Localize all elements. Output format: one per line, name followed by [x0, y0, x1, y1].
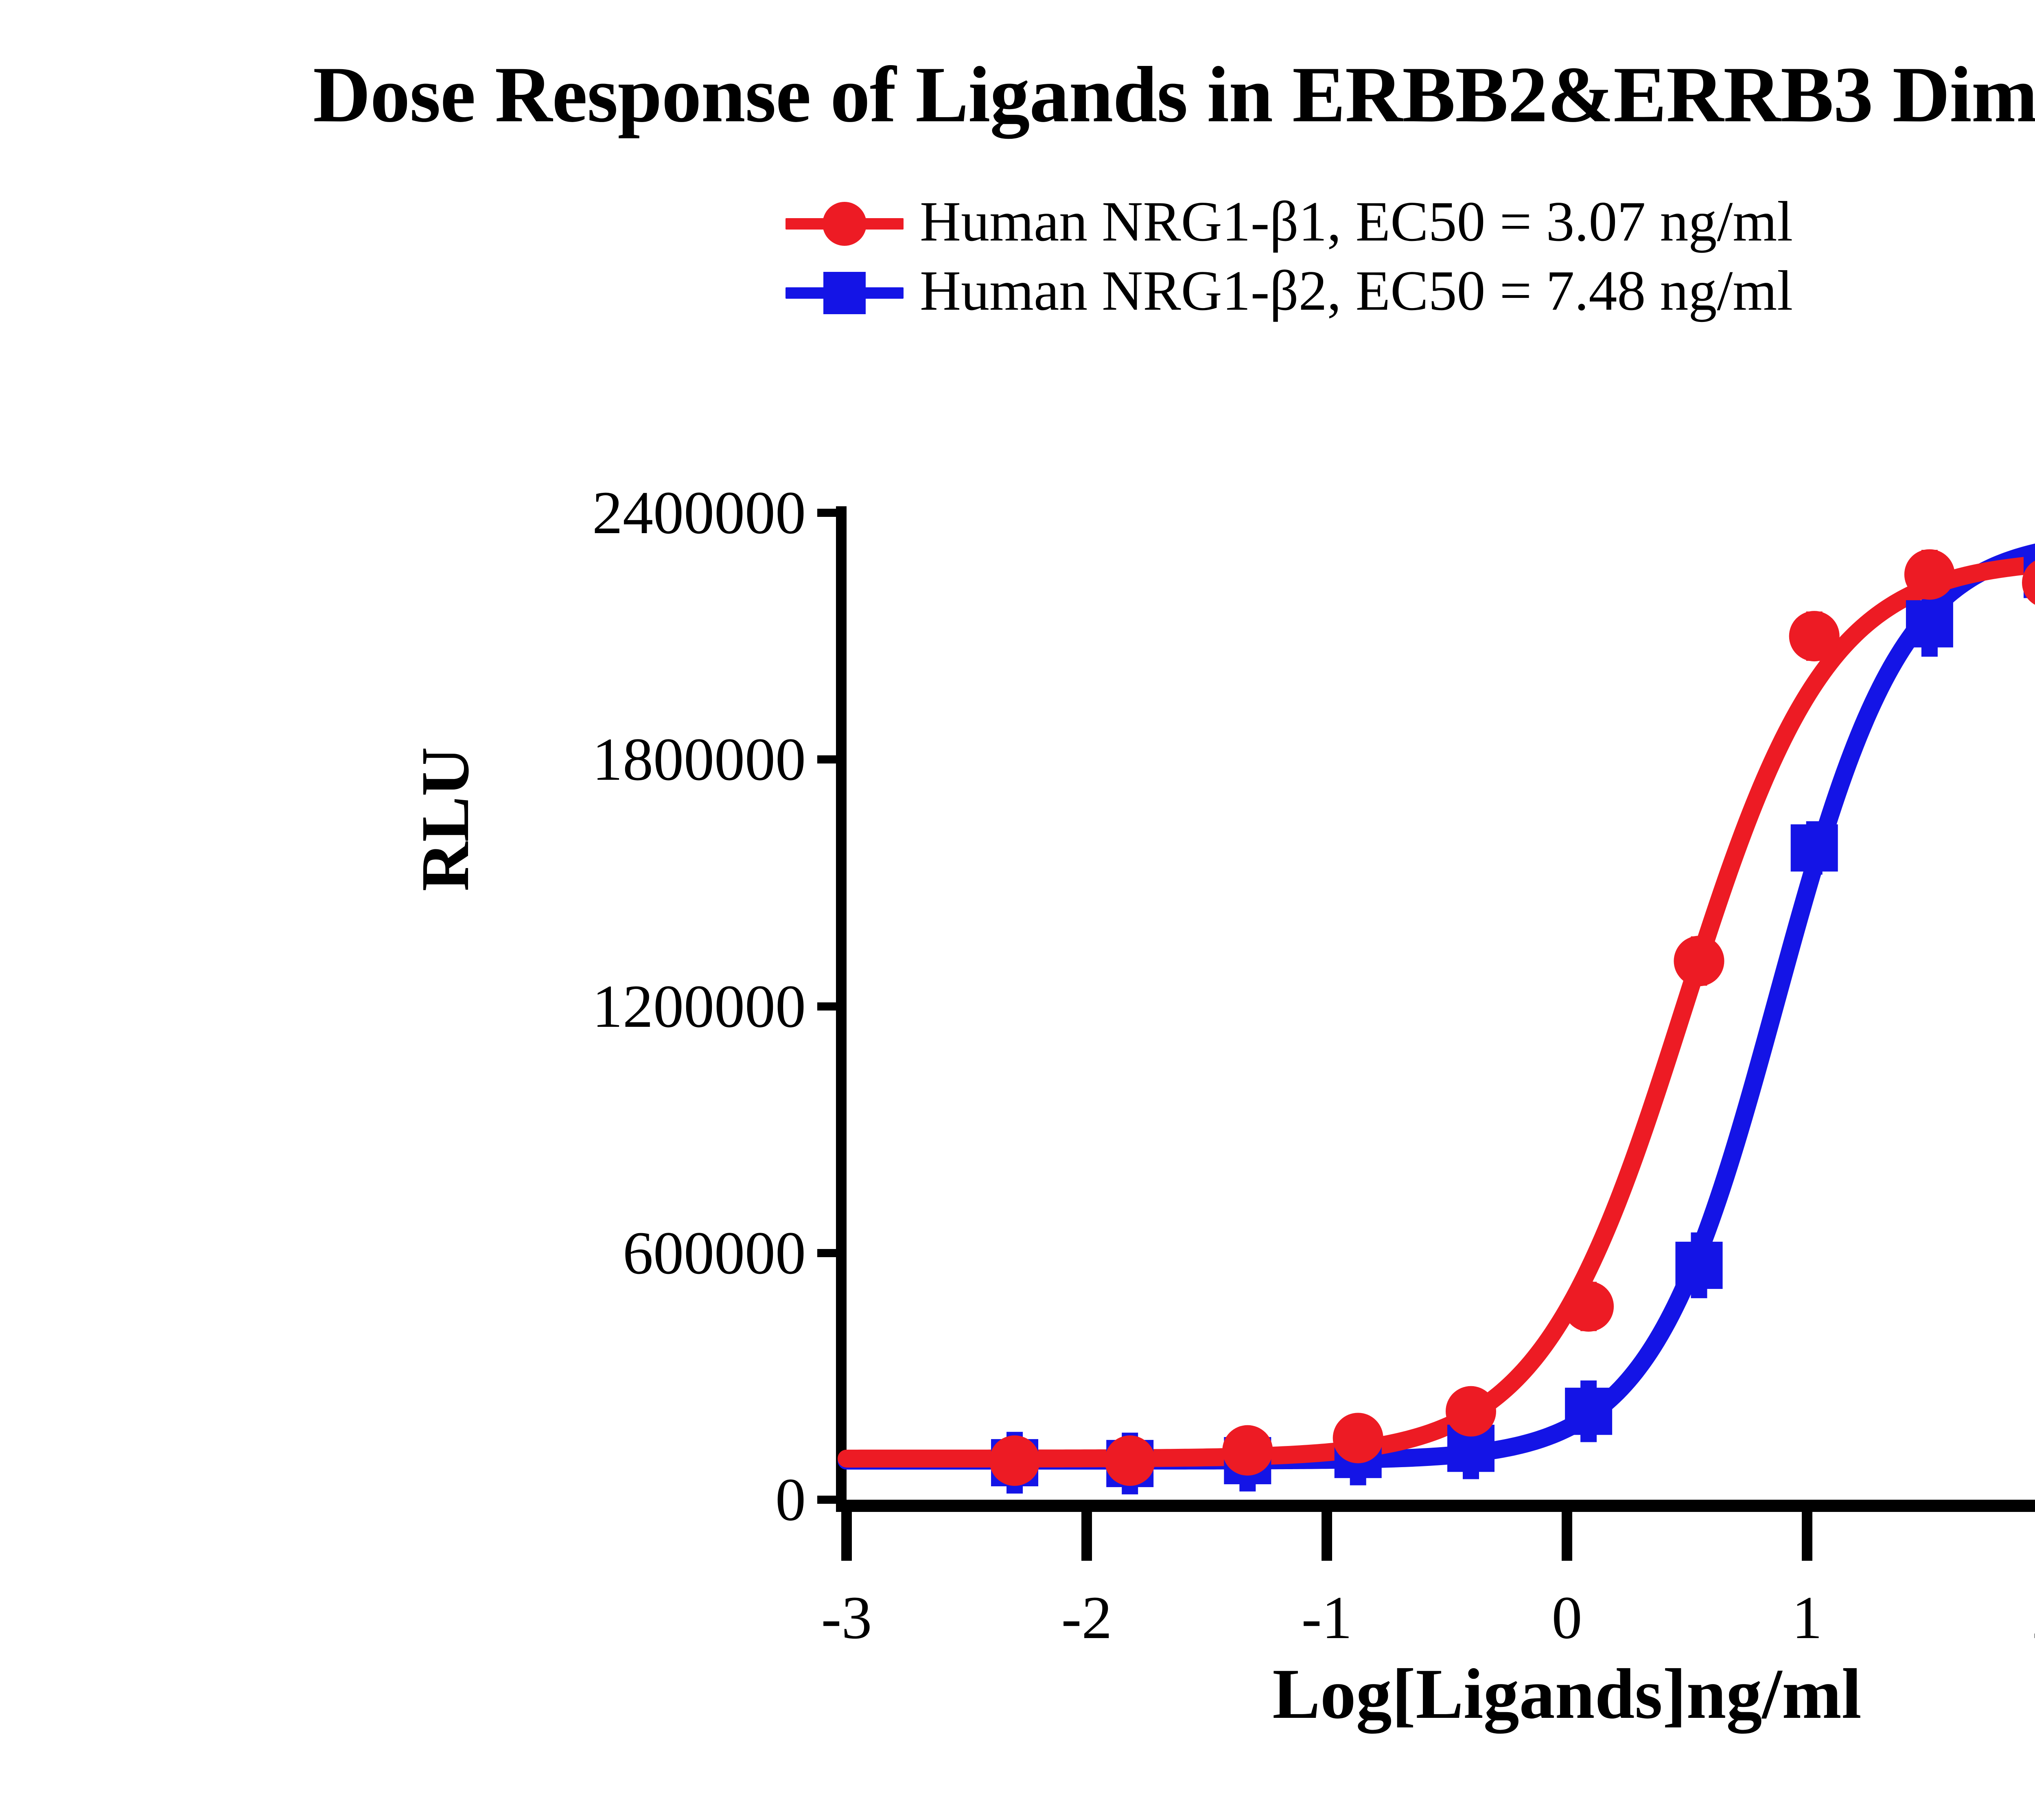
x-tick-label: 1	[1792, 1587, 1823, 1648]
y-tick-label: 600000	[623, 1223, 806, 1284]
data-point	[1222, 1425, 1273, 1476]
plot-area: 0600000120000018000002400000 -3-2-10123	[847, 513, 2035, 1500]
x-tick	[1322, 1512, 1332, 1561]
x-tick	[1802, 1512, 1812, 1561]
legend-entry-series1: Human NRG1-β1, EC50 = 3.07 ng/ml	[786, 189, 1793, 258]
y-tick	[817, 1496, 847, 1504]
x-tick	[841, 1512, 852, 1561]
y-axis-title: RLU	[411, 747, 479, 891]
y-tick	[817, 755, 847, 763]
y-tick	[817, 1002, 847, 1011]
data-layer	[847, 513, 2035, 1500]
data-point	[1105, 1435, 1155, 1486]
x-axis-title: Log[Ligands]ng/ml	[847, 1658, 2035, 1730]
legend-marker-series1	[786, 199, 904, 248]
data-point	[1333, 1413, 1383, 1463]
data-point	[1906, 600, 1953, 647]
error-bars-series2	[1015, 513, 2035, 1494]
x-tick	[1562, 1512, 1572, 1561]
y-tick-label: 2400000	[592, 482, 806, 543]
data-point	[1446, 1386, 1496, 1437]
x-tick-label: 0	[1552, 1587, 1582, 1648]
data-point	[1565, 1388, 1612, 1435]
legend-label-series2: Human NRG1-β2, EC50 = 7.48 ng/ml	[920, 262, 1793, 324]
x-tick-label: -2	[1061, 1587, 1112, 1648]
markers-series2	[991, 512, 2035, 1487]
chart-legend: Human NRG1-β1, EC50 = 3.07 ng/ml Human N…	[786, 189, 1793, 328]
legend-marker-series2	[786, 269, 904, 317]
data-point	[1563, 1281, 1614, 1332]
curve-series1	[847, 558, 2035, 1459]
y-tick-label: 1800000	[592, 729, 806, 790]
legend-entry-series2: Human NRG1-β2, EC50 = 7.48 ng/ml	[786, 258, 1793, 328]
data-point	[1676, 1242, 1723, 1289]
chart-root: Dose Response of Ligands in ERBB2&ERRB3 …	[0, 0, 2035, 1820]
x-axis-line	[836, 1500, 2035, 1512]
x-tick-label: 2	[2032, 1587, 2035, 1648]
legend-label-series1: Human NRG1-β1, EC50 = 3.07 ng/ml	[920, 193, 1793, 254]
x-tick-label: -3	[821, 1587, 872, 1648]
data-point	[1791, 824, 1838, 871]
y-tick-label: 1200000	[592, 976, 806, 1037]
y-tick	[817, 1249, 847, 1257]
data-point	[1789, 611, 1840, 661]
x-tick-label: -1	[1302, 1587, 1352, 1648]
y-tick	[817, 509, 847, 517]
x-tick	[1081, 1512, 1092, 1561]
data-point	[1674, 936, 1724, 986]
chart-title: Dose Response of Ligands in ERBB2&ERRB3 …	[0, 53, 2035, 137]
data-point	[1904, 549, 1955, 600]
curve-series2	[847, 538, 2035, 1461]
y-tick-label: 0	[775, 1469, 806, 1530]
data-point	[989, 1435, 1040, 1486]
